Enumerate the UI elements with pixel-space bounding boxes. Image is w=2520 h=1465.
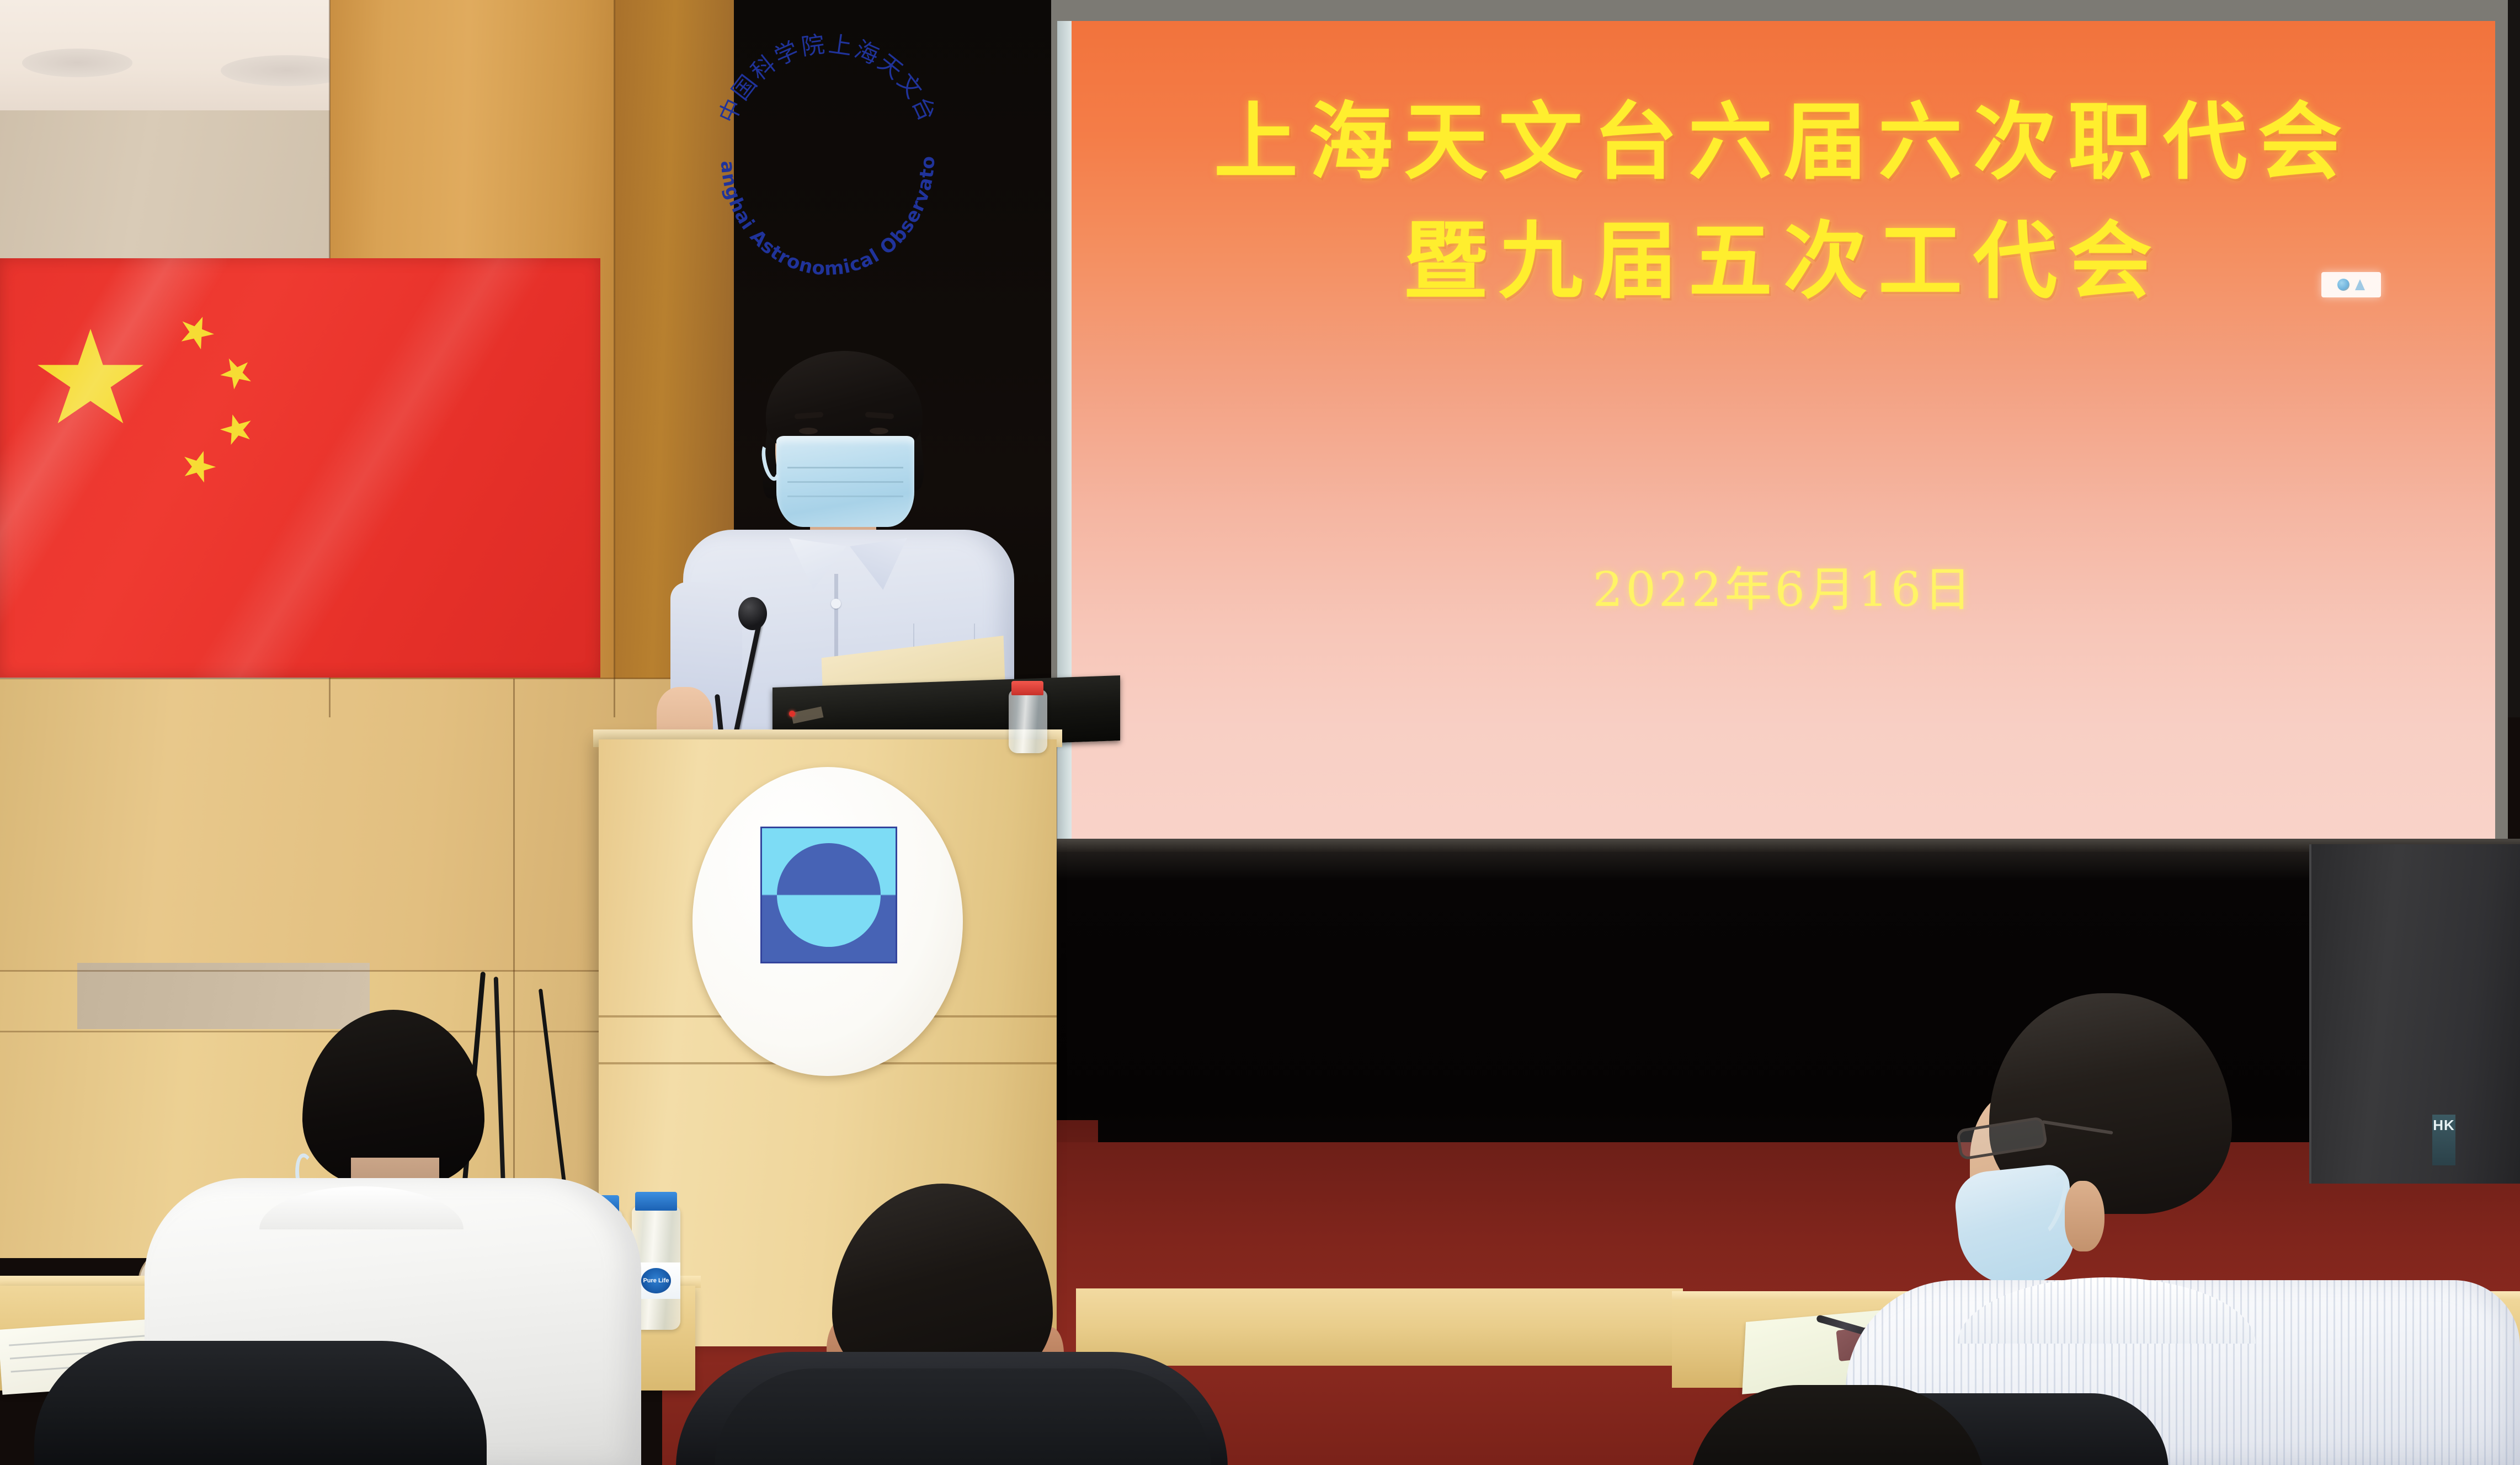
bottle-brand-logo: Pure Life [641,1268,672,1293]
speaker-eye [870,428,888,434]
flag-star-large [38,329,143,430]
slide-title-line-1: 上海天文台六届六次职代会 [1072,83,2495,202]
flag-star-small [178,446,220,487]
chair-left[interactable] [34,1341,487,1465]
wood-seam [0,970,618,972]
audio-speaker-cabinet [2309,844,2520,1184]
flag-star-small [174,311,219,354]
speaker-brand-badge: HK [2432,1115,2455,1165]
emblem-mark-circle [777,843,881,947]
projection-screen: 上海天文台六届六次职代会 暨九届五次工代会 2022年6月16日 [1072,21,2495,841]
presentation-toolbar[interactable] [2321,272,2381,297]
slide-title: 上海天文台六届六次职代会 暨九届五次工代会 [1072,83,2495,321]
bottle-cap [635,1192,677,1211]
table-centre [1076,1288,1683,1366]
ceiling-light [22,49,132,77]
speaker-eye [799,428,818,434]
stage-curtain [1051,839,2520,1186]
flag-star-small [217,410,256,449]
slide-title-line-2: 暨九届五次工代会 [1072,202,2495,321]
china-flag [0,258,600,678]
curtain-rail [1051,839,2520,852]
wood-seam-vertical [614,0,615,717]
presentation-pointer-icon[interactable] [2355,279,2365,290]
audience-right-ear [2065,1181,2105,1251]
flag-star-small [215,351,259,396]
water-bottle-podium [1009,690,1047,753]
presentation-pen-icon[interactable] [2337,279,2349,291]
slide-date: 2022年6月16日 [1072,551,2495,620]
speaker-face-mask [776,436,914,527]
wood-seam [0,1031,618,1032]
microphone-head[interactable] [738,597,767,630]
speaker-shirt-button [831,599,841,609]
bottle-brand-text: Pure Life [643,1278,669,1284]
speaker-brand-label: HK [2433,1117,2455,1134]
laptop-indicator-light [789,711,795,717]
wood-seam [0,678,750,679]
wall-acoustic-square [77,963,370,1029]
bottle-cap [1011,681,1043,695]
conference-hall-photo: 上海天文台六届六次职代会 暨九届五次工代会 2022年6月16日 HK [0,0,2520,1465]
chair-centre[interactable] [715,1368,1211,1465]
